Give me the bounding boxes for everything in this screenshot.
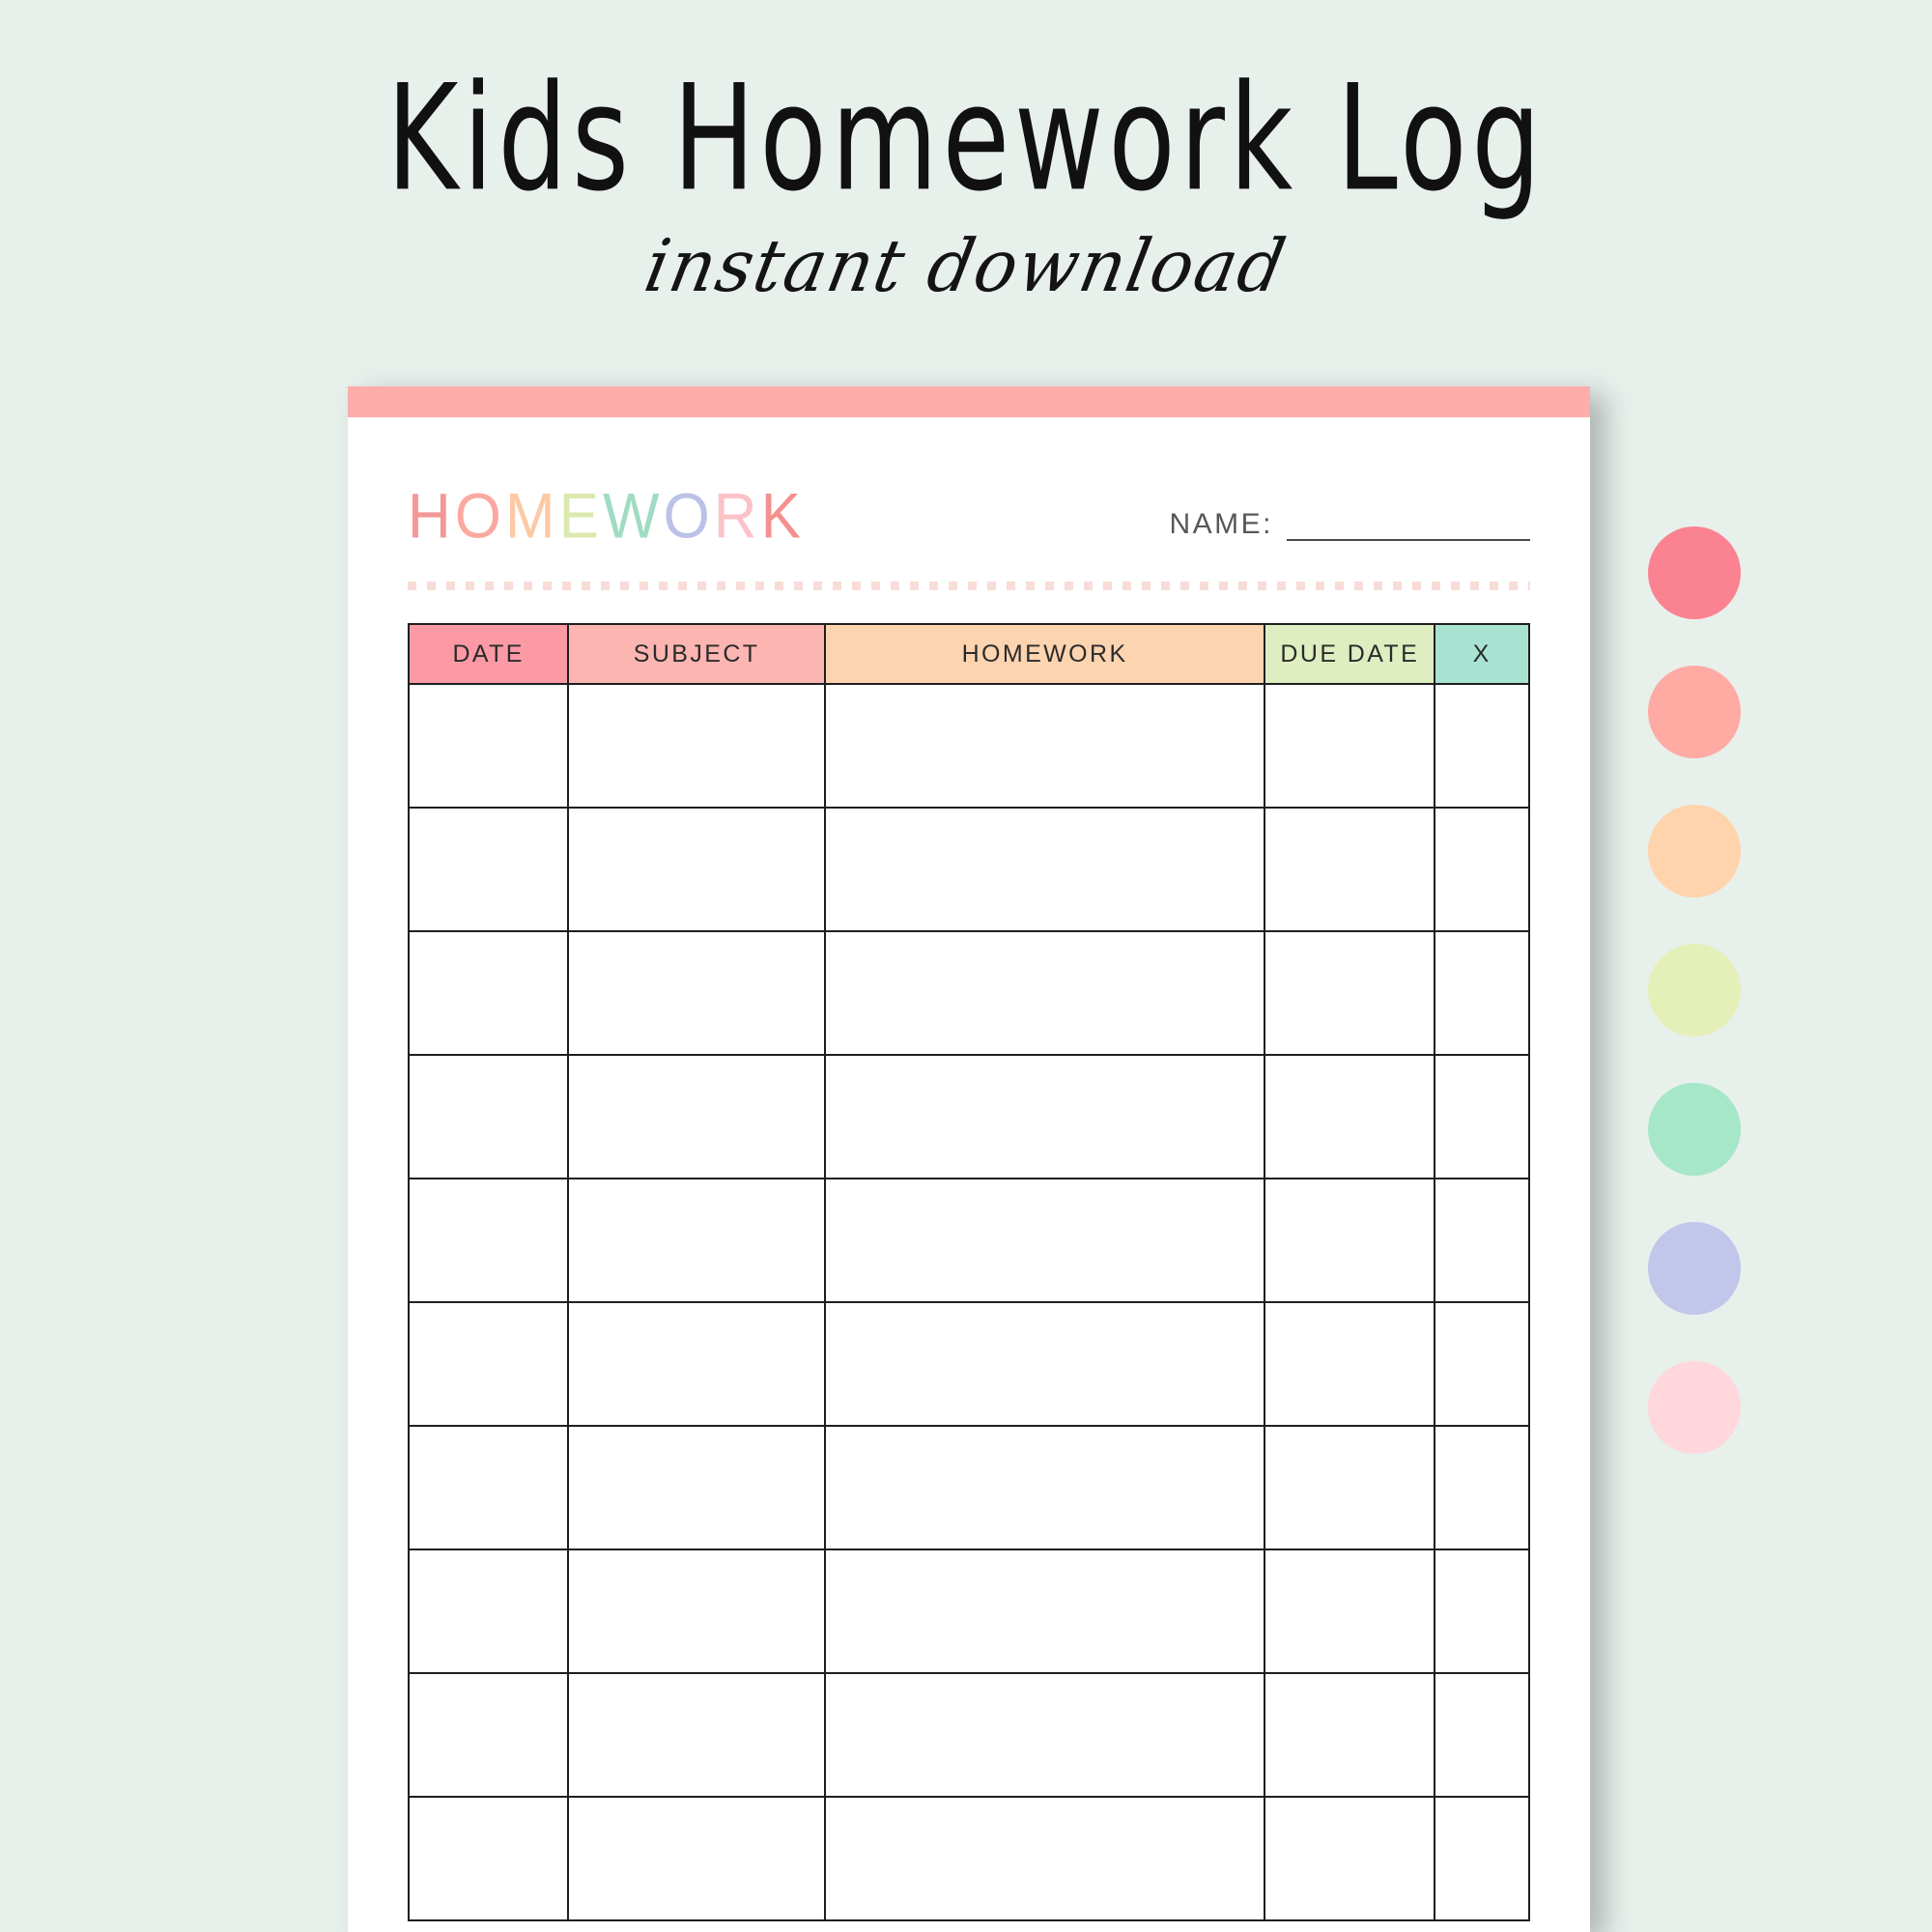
- table-row: [409, 1055, 1529, 1179]
- homework-wordmark: HOMEWORK: [408, 485, 805, 549]
- wordmark-letter-0: H: [408, 485, 455, 549]
- cell-homework[interactable]: [825, 1797, 1264, 1920]
- name-field[interactable]: NAME:: [1169, 508, 1530, 549]
- cell-homework[interactable]: [825, 1673, 1264, 1797]
- wordmark-letter-3: E: [559, 485, 603, 549]
- cell-due_date[interactable]: [1264, 1797, 1435, 1920]
- color-swatch-lime-cream: [1648, 944, 1741, 1037]
- cell-check[interactable]: [1435, 1426, 1529, 1549]
- cell-due_date[interactable]: [1264, 931, 1435, 1055]
- cell-subject[interactable]: [568, 1302, 825, 1426]
- wordmark-letter-6: R: [714, 485, 761, 549]
- color-swatch-peach: [1648, 805, 1741, 897]
- table-row: [409, 1673, 1529, 1797]
- cell-homework[interactable]: [825, 1549, 1264, 1673]
- page-top-accent-bar: [348, 386, 1590, 417]
- column-header-homework: HOMEWORK: [825, 624, 1264, 684]
- cell-due_date[interactable]: [1264, 808, 1435, 931]
- color-swatch-mint: [1648, 1083, 1741, 1176]
- cell-subject[interactable]: [568, 1673, 825, 1797]
- table-row: [409, 1179, 1529, 1302]
- table-row: [409, 1549, 1529, 1673]
- cell-check[interactable]: [1435, 1673, 1529, 1797]
- cell-check[interactable]: [1435, 1797, 1529, 1920]
- cell-date[interactable]: [409, 1179, 568, 1302]
- cell-subject[interactable]: [568, 1426, 825, 1549]
- color-swatch-strip: [1648, 526, 1741, 1500]
- column-header-due_date: DUE DATE: [1264, 624, 1435, 684]
- cell-check[interactable]: [1435, 1302, 1529, 1426]
- name-label: NAME:: [1169, 508, 1273, 541]
- cell-subject[interactable]: [568, 808, 825, 931]
- cell-subject[interactable]: [568, 1179, 825, 1302]
- wordmark-letter-7: K: [761, 485, 805, 549]
- cell-homework[interactable]: [825, 1302, 1264, 1426]
- color-swatch-periwinkle: [1648, 1222, 1741, 1315]
- wordmark-letter-2: M: [505, 485, 559, 549]
- wordmark-letter-5: O: [664, 485, 714, 549]
- page-body: HOMEWORK NAME: DATESUBJECTHOMEWORKDUE DA…: [348, 417, 1590, 1921]
- cell-date[interactable]: [409, 1302, 568, 1426]
- wordmark-letter-4: W: [603, 485, 664, 549]
- cell-date[interactable]: [409, 1549, 568, 1673]
- table-row: [409, 1302, 1529, 1426]
- homework-table: DATESUBJECTHOMEWORKDUE DATEX: [408, 623, 1530, 1921]
- cell-date[interactable]: [409, 684, 568, 808]
- table-row: [409, 931, 1529, 1055]
- cell-date[interactable]: [409, 1426, 568, 1549]
- page-title: Kids Homework Log: [58, 60, 1874, 218]
- cell-check[interactable]: [1435, 931, 1529, 1055]
- cell-homework[interactable]: [825, 684, 1264, 808]
- cell-subject[interactable]: [568, 1797, 825, 1920]
- wordmark-letter-1: O: [455, 485, 505, 549]
- color-swatch-blush-pink: [1648, 1361, 1741, 1454]
- cell-subject[interactable]: [568, 1549, 825, 1673]
- color-swatch-salmon: [1648, 666, 1741, 758]
- cell-subject[interactable]: [568, 684, 825, 808]
- cell-date[interactable]: [409, 931, 568, 1055]
- cell-due_date[interactable]: [1264, 1426, 1435, 1549]
- color-swatch-coral: [1648, 526, 1741, 619]
- promo-subtitle: instant download: [0, 223, 1932, 307]
- table-row: [409, 1797, 1529, 1920]
- cell-date[interactable]: [409, 808, 568, 931]
- cell-homework[interactable]: [825, 808, 1264, 931]
- cell-homework[interactable]: [825, 1179, 1264, 1302]
- cell-date[interactable]: [409, 1673, 568, 1797]
- cell-date[interactable]: [409, 1797, 568, 1920]
- cell-date[interactable]: [409, 1055, 568, 1179]
- cell-due_date[interactable]: [1264, 1549, 1435, 1673]
- table-body: [409, 684, 1529, 1920]
- promo-header: Kids Homework Log instant download: [0, 0, 1932, 306]
- cell-due_date[interactable]: [1264, 684, 1435, 808]
- cell-due_date[interactable]: [1264, 1673, 1435, 1797]
- cell-subject[interactable]: [568, 1055, 825, 1179]
- sheet-header: HOMEWORK NAME:: [408, 456, 1530, 549]
- column-header-subject: SUBJECT: [568, 624, 825, 684]
- column-header-check: X: [1435, 624, 1529, 684]
- cell-due_date[interactable]: [1264, 1055, 1435, 1179]
- dotted-divider: [408, 582, 1530, 590]
- cell-check[interactable]: [1435, 684, 1529, 808]
- cell-subject[interactable]: [568, 931, 825, 1055]
- table-header-row: DATESUBJECTHOMEWORKDUE DATEX: [409, 624, 1529, 684]
- cell-homework[interactable]: [825, 931, 1264, 1055]
- cell-check[interactable]: [1435, 1055, 1529, 1179]
- table-row: [409, 1426, 1529, 1549]
- column-header-date: DATE: [409, 624, 568, 684]
- name-input-line[interactable]: [1287, 537, 1530, 541]
- table-header: DATESUBJECTHOMEWORKDUE DATEX: [409, 624, 1529, 684]
- cell-check[interactable]: [1435, 1179, 1529, 1302]
- cell-homework[interactable]: [825, 1426, 1264, 1549]
- cell-due_date[interactable]: [1264, 1179, 1435, 1302]
- cell-due_date[interactable]: [1264, 1302, 1435, 1426]
- printable-page-preview: HOMEWORK NAME: DATESUBJECTHOMEWORKDUE DA…: [348, 386, 1590, 1932]
- table-row: [409, 684, 1529, 808]
- cell-homework[interactable]: [825, 1055, 1264, 1179]
- cell-check[interactable]: [1435, 1549, 1529, 1673]
- cell-check[interactable]: [1435, 808, 1529, 931]
- table-row: [409, 808, 1529, 931]
